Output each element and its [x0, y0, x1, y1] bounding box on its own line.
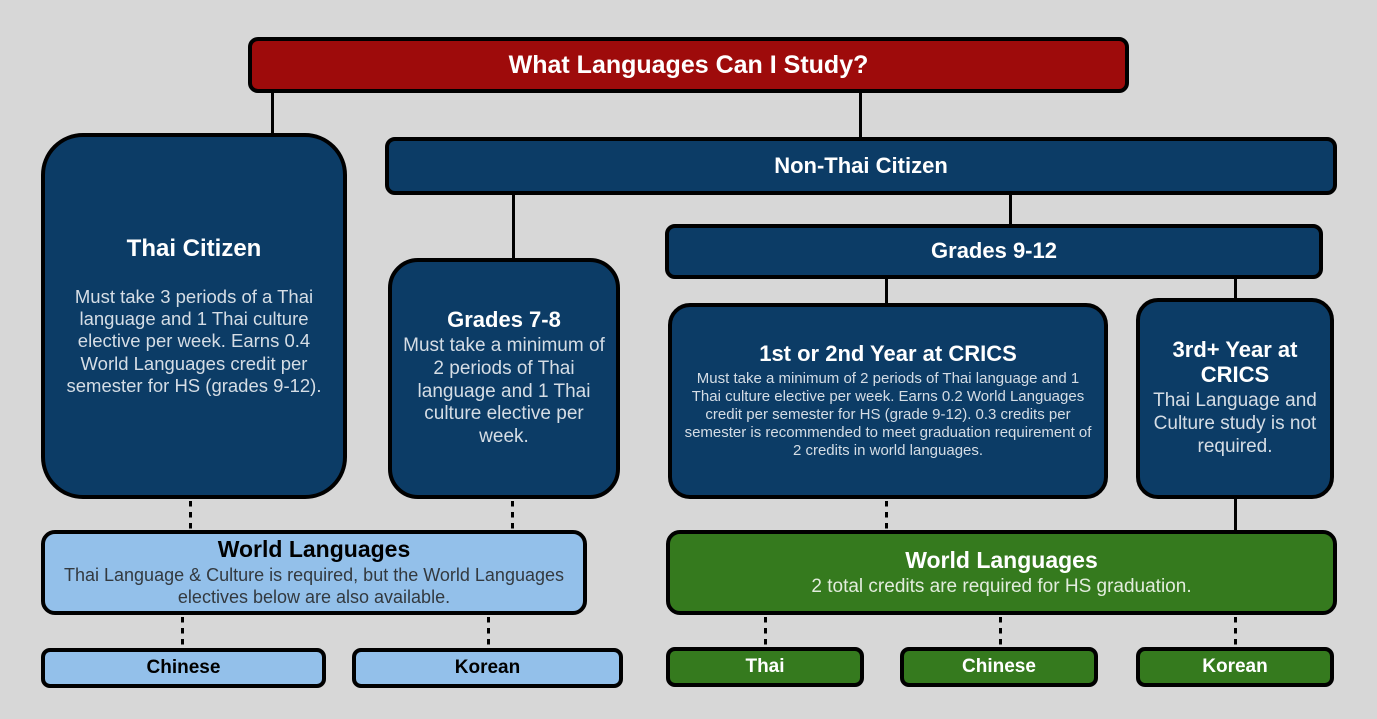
world-languages-thai-title: World Languages: [218, 536, 411, 562]
connector-grades912-to-crics-3rd: [1234, 279, 1237, 298]
node-elective-korean-thai-track[interactable]: Korean: [352, 648, 623, 688]
connector-dotted-crics12-to-world-languages: [885, 501, 888, 530]
crics-3rd-plus-title: 3rd+ Year at CRICS: [1150, 338, 1320, 388]
thai-citizen-body: Must take 3 periods of a Thai language a…: [55, 286, 333, 397]
world-languages-non-thai-title: World Languages: [905, 547, 1098, 573]
connector-dotted-wl-to-chinese-green: [999, 617, 1002, 647]
node-crics-3rd-plus-year[interactable]: 3rd+ Year at CRICS Thai Language and Cul…: [1136, 298, 1334, 499]
crics-1st-2nd-body: Must take a minimum of 2 periods of Thai…: [682, 370, 1094, 460]
world-languages-thai-body: Thai Language & Culture is required, but…: [55, 565, 573, 608]
node-world-languages-thai-track[interactable]: World Languages Thai Language & Culture …: [41, 530, 587, 615]
connector-root-to-thai-citizen-vertical: [271, 93, 274, 133]
connector-crics3rd-to-world-languages: [1234, 499, 1237, 530]
connector-nonthai-to-grades78: [512, 195, 515, 258]
node-elective-chinese-thai-track[interactable]: Chinese: [41, 648, 326, 688]
connector-dotted-wl-to-korean-lightblue: [487, 617, 490, 648]
grades-7-8-title: Grades 7-8: [447, 308, 561, 333]
node-crics-1st-or-2nd-year[interactable]: 1st or 2nd Year at CRICS Must take a min…: [668, 303, 1108, 499]
elective-label: Thai: [745, 656, 784, 677]
connector-dotted-wl-to-thai-green: [764, 617, 767, 647]
connector-nonthai-to-grades912: [1009, 195, 1012, 224]
grades-9-12-title: Grades 9-12: [931, 239, 1057, 264]
non-thai-citizen-title: Non-Thai Citizen: [774, 154, 948, 179]
grades-7-8-body: Must take a minimum of 2 periods of Thai…: [402, 335, 606, 449]
world-languages-non-thai-body: 2 total credits are required for HS grad…: [811, 576, 1191, 599]
node-elective-chinese-non-thai-track[interactable]: Chinese: [900, 647, 1098, 687]
elective-label: Korean: [455, 657, 520, 678]
node-thai-citizen[interactable]: Thai Citizen Must take 3 periods of a Th…: [41, 133, 347, 499]
thai-citizen-title: Thai Citizen: [127, 235, 262, 262]
flowchart-canvas: What Languages Can I Study? Thai Citizen…: [0, 0, 1377, 719]
node-grades-9-12[interactable]: Grades 9-12: [665, 224, 1323, 279]
crics-1st-2nd-title: 1st or 2nd Year at CRICS: [759, 342, 1017, 367]
elective-label: Chinese: [962, 656, 1036, 677]
connector-dotted-thai-citizen-to-world-languages: [189, 501, 192, 530]
node-elective-thai-non-thai-track[interactable]: Thai: [666, 647, 864, 687]
elective-label: Korean: [1202, 656, 1267, 677]
node-elective-korean-non-thai-track[interactable]: Korean: [1136, 647, 1334, 687]
connector-grades912-to-crics-1st-2nd: [885, 279, 888, 303]
node-non-thai-citizen[interactable]: Non-Thai Citizen: [385, 137, 1337, 195]
node-world-languages-non-thai-track[interactable]: World Languages 2 total credits are requ…: [666, 530, 1337, 615]
connector-root-to-nonthai-citizen-vertical: [859, 93, 862, 137]
elective-label: Chinese: [147, 657, 221, 678]
root-question-title: What Languages Can I Study?: [509, 51, 869, 79]
connector-dotted-wl-to-chinese-lightblue: [181, 617, 184, 648]
node-grades-7-8[interactable]: Grades 7-8 Must take a minimum of 2 peri…: [388, 258, 620, 499]
crics-3rd-plus-body: Thai Language and Culture study is not r…: [1150, 390, 1320, 458]
node-root-question[interactable]: What Languages Can I Study?: [248, 37, 1129, 93]
connector-dotted-wl-to-korean-green: [1234, 617, 1237, 647]
connector-dotted-grades78-to-world-languages: [511, 501, 514, 530]
